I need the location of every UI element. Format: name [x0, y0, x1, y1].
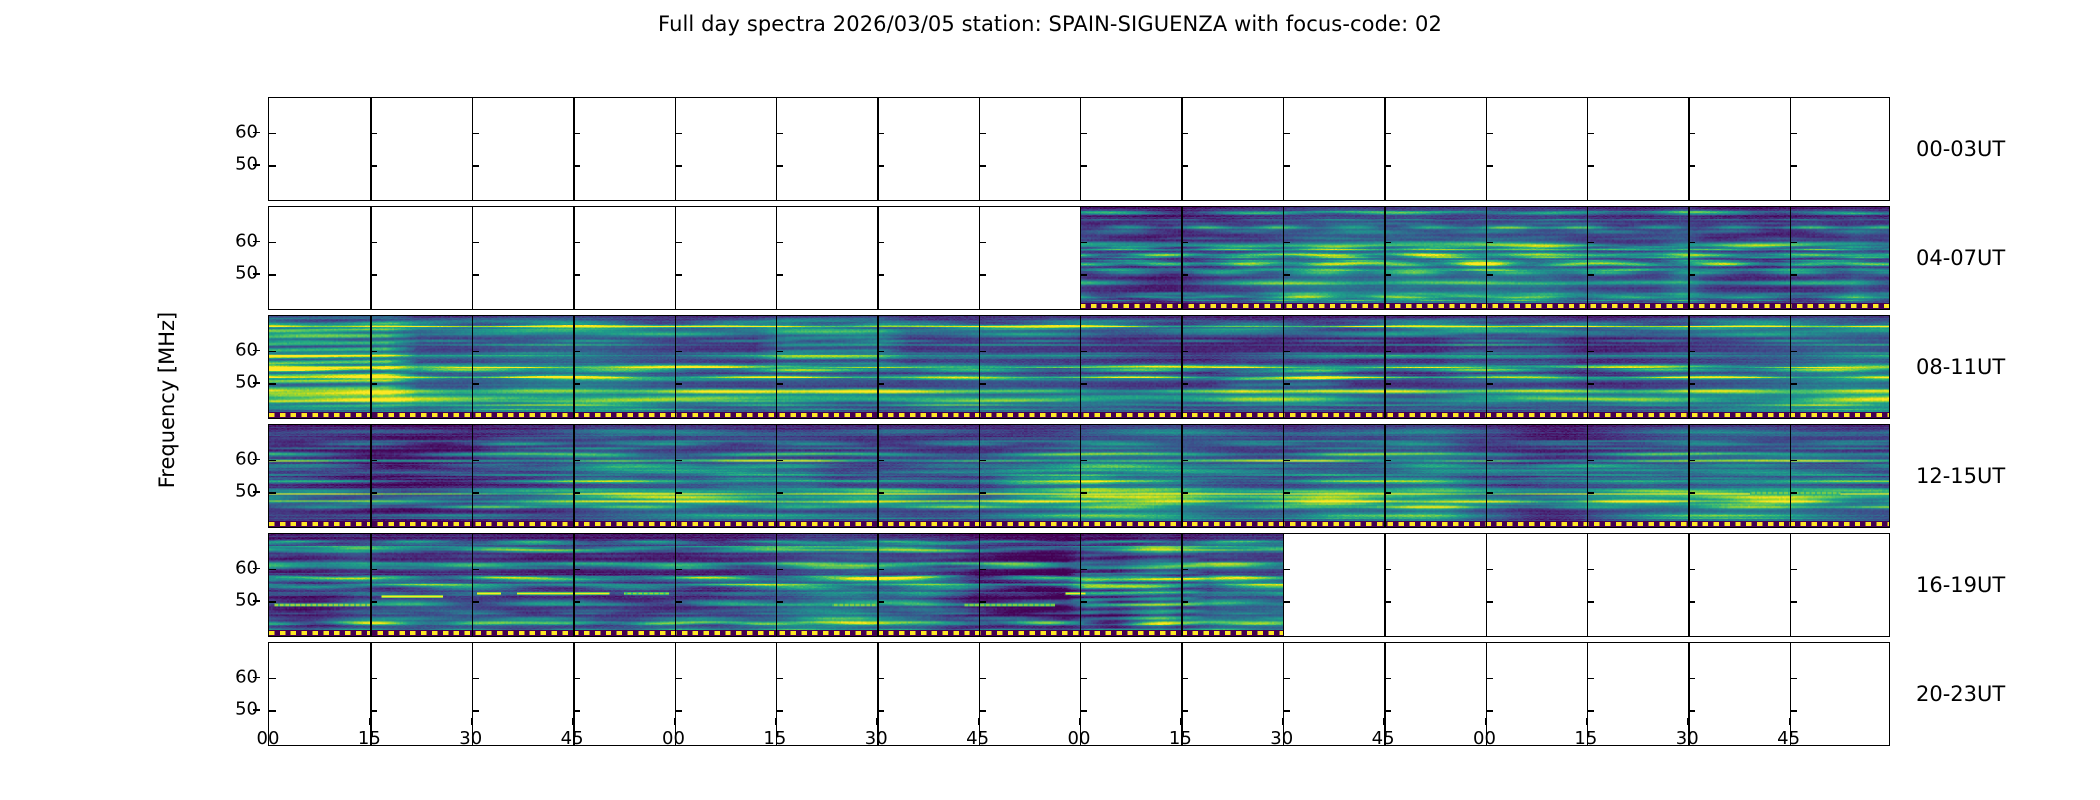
y-tick-mark [1384, 678, 1391, 680]
y-tick-mark-outer [253, 709, 260, 711]
y-tick-mark [1790, 569, 1797, 571]
y-tick-mark [1080, 274, 1087, 276]
subpanel-divider [1587, 316, 1588, 418]
y-tick-mark [1486, 133, 1493, 135]
subpanel-divider [1587, 643, 1588, 745]
y-tick-mark [573, 383, 580, 385]
y-tick-mark [1181, 710, 1188, 712]
subpanel-divider [776, 534, 777, 636]
spectrogram-row [268, 424, 1890, 528]
subpanel-divider [877, 425, 878, 527]
subpanel-divider [1486, 643, 1487, 745]
y-tick-mark [1486, 678, 1493, 680]
y-tick-mark [573, 710, 580, 712]
y-tick-mark-outer [253, 241, 260, 243]
subpanel-divider [979, 534, 980, 636]
y-tick-mark-outer [253, 677, 260, 679]
subpanel-divider [776, 316, 777, 418]
y-tick-mark [776, 383, 783, 385]
x-tick-label: 45 [1372, 728, 1395, 749]
y-tick-mark [573, 165, 580, 167]
subpanel-divider [370, 643, 371, 745]
y-tick-mark [1587, 569, 1594, 571]
y-tick-mark [1790, 383, 1797, 385]
y-tick-mark [877, 569, 884, 571]
y-tick-mark [675, 383, 682, 385]
y-tick-mark [1181, 351, 1188, 353]
subpanel-divider [1587, 207, 1588, 309]
y-tick-mark [1688, 274, 1695, 276]
y-tick-mark [370, 242, 377, 244]
y-tick-mark [1486, 492, 1493, 494]
spectrogram-row [268, 315, 1890, 419]
y-tick-mark [1587, 351, 1594, 353]
y-tick-mark [269, 133, 276, 135]
y-tick-label-group: 6050 [198, 97, 260, 201]
y-tick-mark [1080, 383, 1087, 385]
subpanel-divider [1283, 207, 1284, 309]
subpanel-divider [1080, 207, 1081, 309]
y-tick-mark [675, 492, 682, 494]
y-tick-mark [675, 351, 682, 353]
y-tick-mark [877, 133, 884, 135]
y-tick-mark-outer [253, 568, 260, 570]
subpanel-divider [1790, 98, 1791, 200]
subpanel-divider [1486, 534, 1487, 636]
y-tick-mark [776, 492, 783, 494]
y-tick-mark-outer [253, 459, 260, 461]
y-tick-mark [1080, 133, 1087, 135]
x-tick-label: 45 [1777, 728, 1800, 749]
x-tick-label: 00 [1473, 728, 1496, 749]
y-tick-mark [979, 710, 986, 712]
y-tick-mark-outer [253, 600, 260, 602]
subpanel-divider [573, 316, 574, 418]
y-tick-mark [472, 678, 479, 680]
y-tick-mark [1790, 460, 1797, 462]
x-tick-label: 00 [1068, 728, 1091, 749]
y-tick-mark [1384, 242, 1391, 244]
subpanel-divider [776, 207, 777, 309]
subpanel-divider [1080, 534, 1081, 636]
y-tick-mark [1181, 165, 1188, 167]
y-tick-mark [370, 460, 377, 462]
y-tick-mark [370, 492, 377, 494]
subpanel-divider [979, 98, 980, 200]
subpanel-divider [573, 534, 574, 636]
row-time-label: 12-15UT [1916, 464, 2005, 488]
y-tick-mark [979, 383, 986, 385]
subpanel-divider [1283, 425, 1284, 527]
y-tick-mark [979, 492, 986, 494]
y-tick-mark [472, 492, 479, 494]
y-tick-mark-outer [253, 132, 260, 134]
subpanel-divider [1688, 643, 1689, 745]
y-tick-mark [1181, 383, 1188, 385]
subpanel-divider [573, 207, 574, 309]
x-tick-label: 45 [561, 728, 584, 749]
y-tick-mark [1080, 710, 1087, 712]
y-tick-mark [1587, 601, 1594, 603]
subpanel-divider [1181, 98, 1182, 200]
subpanel-divider [1486, 98, 1487, 200]
y-tick-mark [877, 274, 884, 276]
subpanel-divider [1486, 316, 1487, 418]
subpanel-divider [573, 425, 574, 527]
y-tick-mark [1587, 274, 1594, 276]
y-tick-mark [472, 710, 479, 712]
y-tick-mark [573, 601, 580, 603]
y-tick-mark [1688, 601, 1695, 603]
y-tick-mark [1080, 569, 1087, 571]
y-tick-mark [370, 710, 377, 712]
y-tick-mark [776, 165, 783, 167]
y-tick-mark [1384, 710, 1391, 712]
y-tick-mark [1181, 601, 1188, 603]
y-tick-mark [979, 274, 986, 276]
y-tick-mark [1688, 165, 1695, 167]
subpanel-divider [370, 534, 371, 636]
y-tick-mark [1790, 133, 1797, 135]
y-tick-mark-outer [253, 164, 260, 166]
y-tick-mark [1080, 165, 1087, 167]
y-tick-mark [1080, 492, 1087, 494]
y-tick-mark [877, 460, 884, 462]
subpanel-divider [1384, 534, 1385, 636]
y-tick-mark [776, 601, 783, 603]
y-tick-mark [370, 165, 377, 167]
subpanel-divider [1688, 425, 1689, 527]
y-tick-mark [269, 678, 276, 680]
y-tick-mark [1587, 383, 1594, 385]
subpanel-divider [877, 207, 878, 309]
y-tick-mark [1587, 460, 1594, 462]
y-tick-mark [370, 274, 377, 276]
y-tick-mark [1790, 678, 1797, 680]
y-tick-mark [675, 133, 682, 135]
y-tick-mark [1283, 460, 1290, 462]
subpanel-divider [1790, 425, 1791, 527]
y-tick-mark [979, 165, 986, 167]
y-tick-mark [1283, 492, 1290, 494]
y-tick-mark [1283, 601, 1290, 603]
spectrogram-figure: Full day spectra 2026/03/05 station: SPA… [0, 0, 2100, 800]
y-tick-mark [472, 601, 479, 603]
y-tick-mark [1688, 383, 1695, 385]
y-tick-mark [1080, 601, 1087, 603]
y-tick-mark [1181, 460, 1188, 462]
subpanel-divider [1384, 98, 1385, 200]
y-tick-mark [573, 242, 580, 244]
y-tick-mark [573, 460, 580, 462]
y-tick-mark [472, 569, 479, 571]
subpanel-divider [1283, 643, 1284, 745]
y-tick-mark [573, 133, 580, 135]
x-tick-label: 15 [1574, 728, 1597, 749]
x-tick-label: 45 [966, 728, 989, 749]
subpanel-divider [1181, 425, 1182, 527]
y-tick-mark [979, 569, 986, 571]
y-tick-mark [776, 274, 783, 276]
y-tick-mark [1181, 133, 1188, 135]
subpanel-divider [1790, 207, 1791, 309]
spectrogram-row [268, 533, 1890, 637]
y-tick-mark [1384, 601, 1391, 603]
y-tick-mark [877, 351, 884, 353]
y-tick-mark-outer [253, 382, 260, 384]
y-tick-mark [370, 383, 377, 385]
subpanel-divider [1080, 643, 1081, 745]
y-tick-mark [269, 492, 276, 494]
row-time-label: 04-07UT [1916, 246, 2005, 270]
subpanel-divider [776, 98, 777, 200]
y-tick-mark [1587, 133, 1594, 135]
y-tick-mark [573, 678, 580, 680]
subpanel-divider [776, 643, 777, 745]
y-tick-mark [1688, 710, 1695, 712]
subpanel-divider [472, 425, 473, 527]
y-tick-mark [1688, 460, 1695, 462]
y-tick-mark [1283, 274, 1290, 276]
row-time-label: 16-19UT [1916, 573, 2005, 597]
y-tick-mark [573, 351, 580, 353]
subpanel-divider [1790, 316, 1791, 418]
subpanel-divider [1080, 98, 1081, 200]
spectrogram-row [268, 97, 1890, 201]
spectrogram-row [268, 206, 1890, 310]
y-tick-mark-outer [253, 350, 260, 352]
subpanel-divider [1384, 643, 1385, 745]
y-tick-mark [472, 165, 479, 167]
y-tick-mark [1283, 165, 1290, 167]
y-tick-mark [1587, 242, 1594, 244]
y-tick-mark [979, 351, 986, 353]
subpanel-divider [776, 425, 777, 527]
y-tick-mark [472, 460, 479, 462]
subpanel-divider [573, 643, 574, 745]
y-tick-mark [472, 133, 479, 135]
y-tick-mark [472, 351, 479, 353]
x-tick-label: 15 [1169, 728, 1192, 749]
y-tick-mark [1080, 460, 1087, 462]
y-tick-mark [573, 569, 580, 571]
y-tick-mark [675, 569, 682, 571]
y-tick-mark [1080, 678, 1087, 680]
subpanel-divider [1790, 534, 1791, 636]
y-tick-mark [776, 133, 783, 135]
y-tick-mark [979, 242, 986, 244]
y-tick-mark [1790, 242, 1797, 244]
subpanel-divider [675, 207, 676, 309]
subpanel-divider [472, 98, 473, 200]
subpanel-divider [675, 425, 676, 527]
y-tick-mark [1384, 460, 1391, 462]
subpanel-divider [1688, 98, 1689, 200]
y-tick-mark [1688, 133, 1695, 135]
y-tick-mark [269, 242, 276, 244]
y-tick-mark [1283, 383, 1290, 385]
y-tick-mark [1688, 678, 1695, 680]
y-tick-mark [472, 242, 479, 244]
y-tick-mark [776, 569, 783, 571]
subpanel-divider [877, 643, 878, 745]
y-tick-mark [1283, 569, 1290, 571]
x-tick-label: 30 [459, 728, 482, 749]
y-tick-mark [1486, 351, 1493, 353]
y-tick-mark [1384, 492, 1391, 494]
y-tick-mark [1384, 165, 1391, 167]
subpanel-divider [1688, 316, 1689, 418]
subpanel-divider [370, 316, 371, 418]
subpanel-divider [675, 643, 676, 745]
y-tick-label-group: 6050 [198, 424, 260, 528]
y-tick-mark [776, 242, 783, 244]
subpanel-divider [979, 207, 980, 309]
subpanel-divider [675, 316, 676, 418]
subpanel-divider [472, 534, 473, 636]
y-tick-mark [1283, 678, 1290, 680]
subpanel-divider [1790, 643, 1791, 745]
subpanel-divider [979, 643, 980, 745]
y-tick-mark [1080, 242, 1087, 244]
subpanel-divider [1587, 425, 1588, 527]
subpanel-divider [370, 98, 371, 200]
y-tick-mark [1790, 274, 1797, 276]
x-tick-label: 00 [257, 728, 280, 749]
subpanel-divider [1181, 316, 1182, 418]
subpanel-divider [1384, 207, 1385, 309]
y-tick-mark [675, 710, 682, 712]
x-tick-label: 30 [1676, 728, 1699, 749]
y-tick-mark [1688, 492, 1695, 494]
y-tick-mark [1486, 601, 1493, 603]
y-tick-mark [776, 351, 783, 353]
y-tick-mark [1283, 242, 1290, 244]
subpanel-divider [472, 643, 473, 745]
y-tick-mark [776, 460, 783, 462]
y-tick-mark [269, 569, 276, 571]
subpanel-divider [1181, 643, 1182, 745]
subpanel-divider [877, 316, 878, 418]
y-tick-mark [1384, 383, 1391, 385]
subpanel-divider [1283, 316, 1284, 418]
subpanel-divider [1384, 316, 1385, 418]
y-tick-mark [269, 601, 276, 603]
y-tick-mark [1790, 165, 1797, 167]
y-tick-mark [573, 274, 580, 276]
y-tick-mark [1384, 569, 1391, 571]
subpanel-divider [573, 98, 574, 200]
y-tick-mark [776, 678, 783, 680]
y-tick-mark [1486, 710, 1493, 712]
y-tick-mark [269, 460, 276, 462]
y-tick-mark [1486, 165, 1493, 167]
y-tick-mark [269, 710, 276, 712]
subpanel-divider [1283, 534, 1284, 636]
row-time-label: 20-23UT [1916, 682, 2005, 706]
y-tick-mark [370, 601, 377, 603]
y-tick-mark [979, 133, 986, 135]
y-tick-mark [877, 242, 884, 244]
subpanel-divider [370, 425, 371, 527]
y-tick-mark [1790, 492, 1797, 494]
y-tick-mark [1283, 710, 1290, 712]
y-tick-mark [675, 242, 682, 244]
y-tick-mark [1790, 351, 1797, 353]
y-tick-mark [1587, 710, 1594, 712]
y-tick-mark [1486, 460, 1493, 462]
y-tick-mark-outer [253, 491, 260, 493]
y-tick-mark [675, 274, 682, 276]
subpanel-divider [1587, 98, 1588, 200]
y-tick-mark [1384, 133, 1391, 135]
y-tick-label-group: 6050 [198, 642, 260, 746]
subpanel-divider [877, 98, 878, 200]
y-tick-mark [1486, 569, 1493, 571]
y-tick-mark [1486, 383, 1493, 385]
x-tick-label: 30 [1270, 728, 1293, 749]
subpanel-divider [979, 425, 980, 527]
x-tick-label: 00 [662, 728, 685, 749]
subpanel-divider [1080, 316, 1081, 418]
y-tick-mark [472, 274, 479, 276]
y-tick-mark [675, 678, 682, 680]
y-tick-mark [675, 601, 682, 603]
y-tick-mark [1790, 601, 1797, 603]
subpanel-divider [1688, 207, 1689, 309]
y-tick-mark [1384, 351, 1391, 353]
y-tick-mark [1688, 569, 1695, 571]
y-tick-mark-outer [253, 273, 260, 275]
y-tick-mark [1181, 242, 1188, 244]
y-tick-mark [979, 601, 986, 603]
x-tick-label: 15 [358, 728, 381, 749]
y-axis-label: Frequency [MHz] [155, 312, 179, 488]
y-tick-label-group: 6050 [198, 315, 260, 419]
x-tick-label: 30 [865, 728, 888, 749]
y-tick-mark [1587, 492, 1594, 494]
y-tick-mark [877, 678, 884, 680]
y-tick-mark [877, 601, 884, 603]
row-time-label: 00-03UT [1916, 137, 2005, 161]
row-time-label: 08-11UT [1916, 355, 2005, 379]
y-tick-mark [1283, 351, 1290, 353]
y-tick-mark [1486, 242, 1493, 244]
y-tick-mark [1486, 274, 1493, 276]
subpanel-divider [370, 207, 371, 309]
subpanel-divider [877, 534, 878, 636]
y-tick-mark [1688, 242, 1695, 244]
y-tick-mark [472, 383, 479, 385]
x-tick-label: 15 [763, 728, 786, 749]
subpanel-divider [675, 98, 676, 200]
subpanel-divider [979, 316, 980, 418]
subpanel-divider [1080, 425, 1081, 527]
y-tick-label-group: 6050 [198, 206, 260, 310]
subpanel-divider [1587, 534, 1588, 636]
subpanel-divider [1486, 207, 1487, 309]
y-tick-mark [370, 133, 377, 135]
subpanel-divider [1283, 98, 1284, 200]
subpanel-divider [472, 316, 473, 418]
subpanel-divider [1181, 534, 1182, 636]
y-tick-mark [1181, 678, 1188, 680]
y-tick-mark [1080, 351, 1087, 353]
y-tick-mark [877, 492, 884, 494]
y-tick-mark [675, 165, 682, 167]
y-tick-mark [877, 710, 884, 712]
subpanel-divider [1688, 534, 1689, 636]
